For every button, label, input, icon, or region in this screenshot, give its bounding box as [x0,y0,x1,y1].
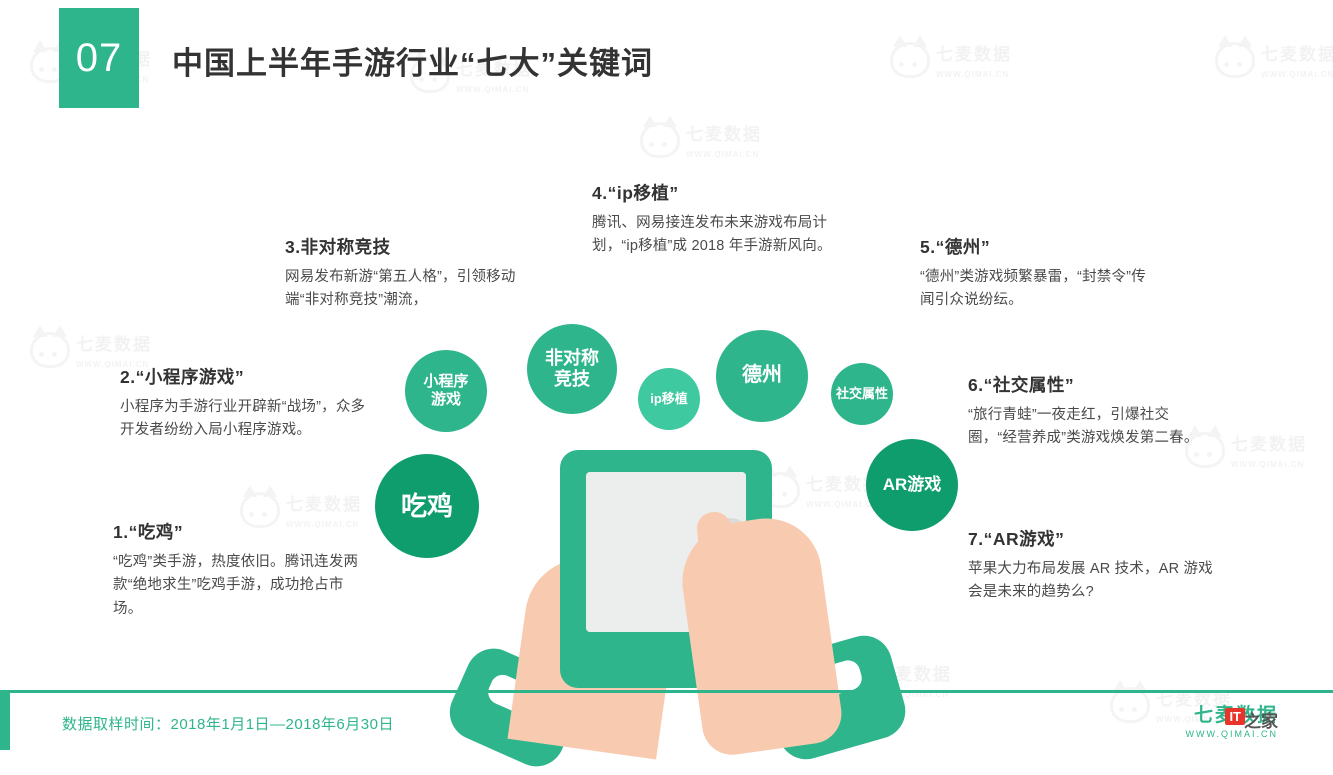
bubble-label: AR游戏 [883,475,942,495]
keyword-5-title: 5.“德州” [920,234,1160,259]
watermark-sub: WWW.QIMAI.CN [1261,70,1333,79]
bubble-label: 非对称 竞技 [545,348,599,390]
it-badge: IT [1225,708,1245,725]
keyword-2-title: 2.“小程序游戏” [120,364,370,389]
keyword-4-desc: 腾讯、网易接连发布未来游戏布局计划，“ip移植”成 2018 年手游新风向。 [592,212,832,259]
bubble-ip-transplant[interactable]: ip移植 [638,368,700,430]
keyword-2-desc: 小程序为手游行业开辟新“战场”，众多开发者纷纷入局小程序游戏。 [120,396,370,443]
watermark-main: 七麦数据 [286,495,362,514]
bubble-chi-ji[interactable]: 吃鸡 [375,454,479,558]
bubble-label: 社交属性 [836,386,888,401]
keyword-6: 6.“社交属性”“旅行青蛙”一夜走红，引爆社交圈，“经营养成”类游戏焕发第二春。 [968,372,1218,451]
keyword-2: 2.“小程序游戏”小程序为手游行业开辟新“战场”，众多开发者纷纷入局小程序游戏。 [120,364,370,443]
watermark-sub: WWW.QIMAI.CN [936,70,1009,79]
bubble-label: 吃鸡 [401,491,453,522]
watermark: 七麦数据WWW.QIMAI.CN [890,40,1012,80]
watermark-sub: WWW.QIMAI.CN [456,85,529,94]
keyword-6-title: 6.“社交属性” [968,372,1218,397]
keyword-6-desc: “旅行青蛙”一夜走红，引爆社交圈，“经营养成”类游戏焕发第二春。 [968,404,1218,451]
cat-logo-icon [640,122,680,158]
bubble-social-attribute[interactable]: 社交属性 [831,363,893,425]
keyword-1-title: 1.“吃鸡” [113,519,363,544]
keyword-7-desc: 苹果大力布局发展 AR 技术，AR 游戏会是未来的趋势么? [968,558,1218,605]
watermark-main: 七麦数据 [936,45,1012,64]
keyword-1: 1.“吃鸡”“吃鸡”类手游，热度依旧。腾讯连发两款“绝地求生”吃鸡手游，成功抢占… [113,519,363,621]
keyword-7: 7.“AR游戏”苹果大力布局发展 AR 技术，AR 游戏会是未来的趋势么? [968,526,1218,605]
keyword-3: 3.非对称竞技网易发布新游“第五人格”，引领移动端“非对称竞技”潮流， [285,234,535,313]
footer-divider [0,690,1333,693]
footer-sample-time: 数据取样时间：2018年1月1日—2018年6月30日 [62,713,394,734]
watermark: 七麦数据WWW.QIMAI.CN [760,470,882,510]
footer-left-bar [0,690,10,750]
section-number: 07 [59,8,139,108]
watermark-main: 七麦数据 [686,125,762,144]
watermark-main: 七麦数据 [76,335,152,354]
keyword-3-title: 3.非对称竞技 [285,234,535,259]
keyword-4: 4.“ip移植”腾讯、网易接连发布未来游戏布局计划，“ip移植”成 2018 年… [592,180,832,259]
bubble-asymmetric-competition[interactable]: 非对称 竞技 [527,324,617,414]
watermark-sub: WWW.QIMAI.CN [686,150,759,159]
keyword-5-desc: “德州”类游戏频繁暴雷，“封禁令”传闻引众说纷纭。 [920,266,1160,313]
watermark-sub: WWW.QIMAI.CN [1231,460,1304,469]
keyword-4-title: 4.“ip移植” [592,180,832,205]
watermark-main: 七麦数据 [1261,45,1333,64]
keyword-5: 5.“德州”“德州”类游戏频繁暴雷，“封禁令”传闻引众说纷纭。 [920,234,1160,313]
bubble-label: 德州 [742,364,782,388]
cat-logo-icon [30,332,70,368]
bubble-label: ip移植 [650,391,688,406]
bubble-dezhou[interactable]: 德州 [716,330,808,422]
watermark: 七麦数据WWW.QIMAI.CN [1215,40,1333,80]
watermark-main: 七麦数据 [1231,435,1307,454]
bubble-ar-game[interactable]: AR游戏 [866,439,958,531]
keyword-7-title: 7.“AR游戏” [968,526,1218,551]
watermark: 七麦数据WWW.QIMAI.CN [640,120,762,160]
bubble-mini-program-game[interactable]: 小程序 游戏 [405,350,487,432]
page-title: 中国上半年手游行业“七大”关键词 [172,38,653,83]
it-badge-tail: 之家 [1244,707,1278,732]
bubble-label: 小程序 游戏 [423,373,468,408]
cat-logo-icon [1215,42,1255,78]
cat-logo-icon [890,42,930,78]
keyword-3-desc: 网易发布新游“第五人格”，引领移动端“非对称竞技”潮流， [285,266,535,313]
keyword-1-desc: “吃鸡”类手游，热度依旧。腾讯连发两款“绝地求生”吃鸡手游，成功抢占市场。 [113,551,363,621]
